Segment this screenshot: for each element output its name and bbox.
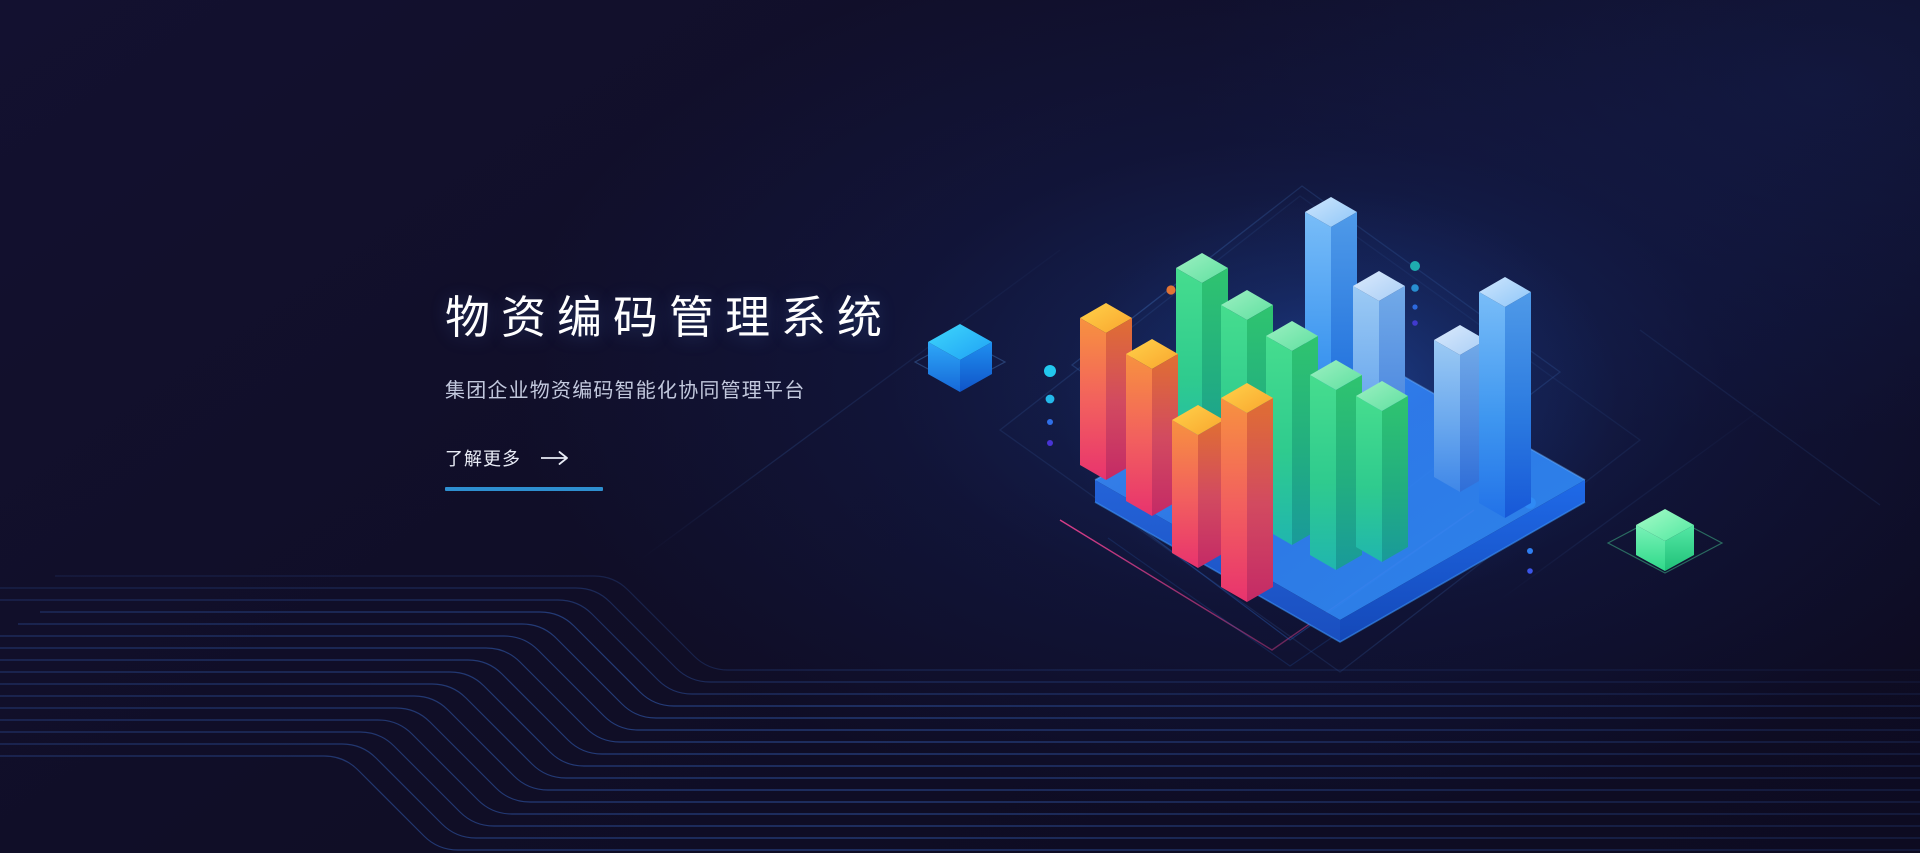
- floating-green-cube: [1600, 485, 1730, 600]
- bar-warm-3: [1172, 405, 1224, 568]
- bar-blue-4: [1479, 277, 1531, 518]
- arrow-right-icon: [541, 451, 571, 465]
- bar-green-4: [1310, 360, 1362, 570]
- bar-warm-2: [1126, 339, 1178, 516]
- page-subtitle: 集团企业物资编码智能化协同管理平台: [445, 374, 1085, 403]
- learn-more-underline: [445, 487, 603, 491]
- bar-warm-1: [1080, 303, 1132, 480]
- hero-banner: 物资编码管理系统 集团企业物资编码智能化协同管理平台 了解更多: [0, 0, 1920, 853]
- learn-more-link[interactable]: 了解更多: [445, 445, 603, 471]
- learn-more-wrapper: 了解更多: [445, 445, 603, 491]
- page-title: 物资编码管理系统: [445, 290, 1085, 346]
- learn-more-label: 了解更多: [445, 445, 521, 471]
- bar-warm-4: [1221, 383, 1273, 602]
- bar-green-5: [1356, 381, 1408, 562]
- hero-content: 物资编码管理系统 集团企业物资编码智能化协同管理平台 了解更多: [445, 290, 1085, 491]
- bar-blue-3: [1434, 325, 1486, 492]
